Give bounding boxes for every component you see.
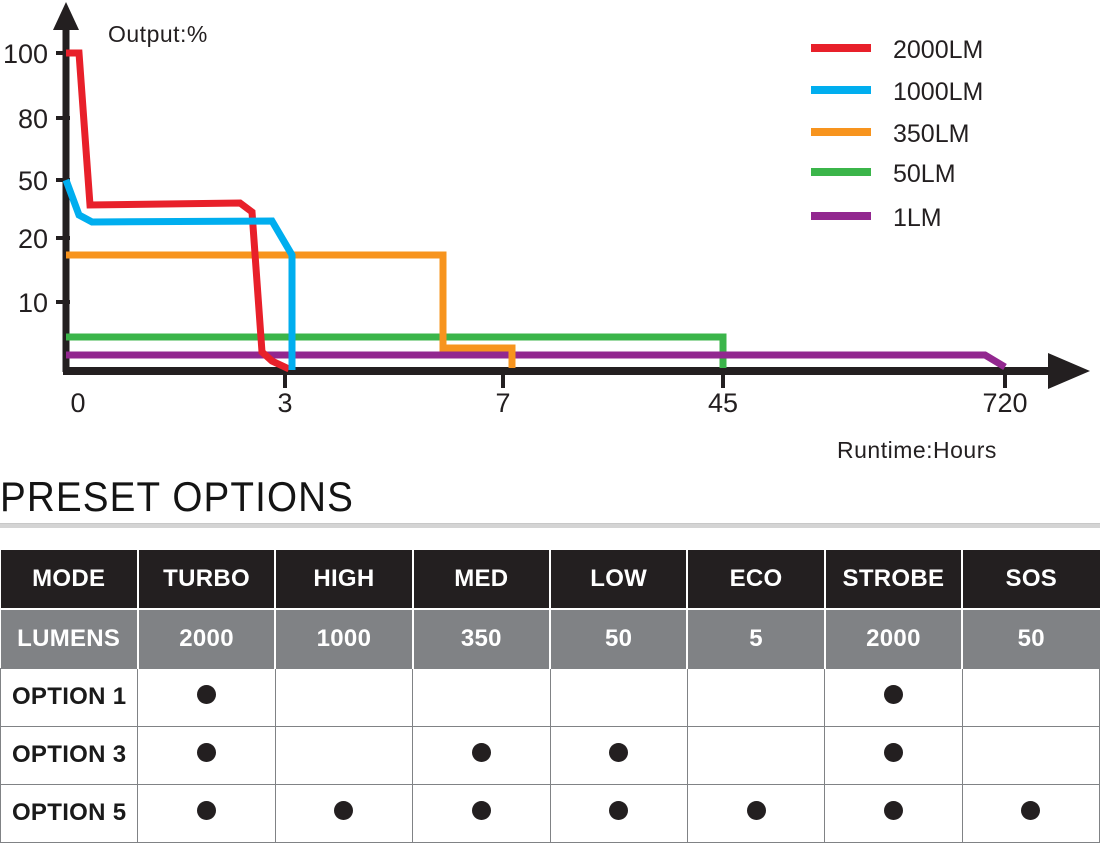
option-label-3: OPTION 3: [1, 726, 138, 784]
x-tick-label-720: 720: [982, 388, 1027, 418]
lumens-cell-4: 50: [550, 609, 687, 668]
selection-dot-icon: [1021, 801, 1040, 820]
lumens-cell-2: 1000: [275, 609, 412, 668]
selection-dot-icon: [197, 685, 216, 704]
legend-label-50LM: 50LM: [893, 160, 956, 188]
legend-item-1LM: 1LM: [811, 204, 942, 232]
selection-dot-icon: [884, 743, 903, 762]
heading-divider: [0, 523, 1100, 528]
option-3-mark-sos[interactable]: [962, 726, 1099, 784]
option-label-5: OPTION 5: [1, 784, 138, 842]
option-1-mark-turbo[interactable]: [138, 668, 275, 726]
y-tick-label-100: 100: [3, 39, 48, 69]
x-tick-label-0: 0: [70, 388, 85, 418]
lumens-cell-0: LUMENS: [1, 609, 138, 668]
legend-label-350LM: 350LM: [893, 120, 969, 148]
table-row-option-5: OPTION 5: [1, 784, 1100, 842]
option-1-mark-med[interactable]: [413, 668, 550, 726]
table-row-lumens: LUMENS 2000 1000 350 50 5 2000 50: [1, 609, 1100, 668]
selection-dot-icon: [197, 743, 216, 762]
mode-header-cell-3: MED: [413, 550, 550, 609]
option-3-mark-eco[interactable]: [687, 726, 824, 784]
mode-header-cell-1: TURBO: [138, 550, 275, 609]
selection-dot-icon: [884, 685, 903, 704]
legend-item-350LM: 350LM: [811, 120, 969, 148]
mode-header-cell-0: MODE: [1, 550, 138, 609]
legend-item-50LM: 50LM: [811, 160, 956, 188]
y-tick-label-50: 50: [18, 166, 48, 196]
option-5-mark-high[interactable]: [275, 784, 412, 842]
option-1-mark-strobe[interactable]: [825, 668, 962, 726]
table-row-mode-header: MODE TURBO HIGH MED LOW ECO STROBE SOS: [1, 550, 1100, 609]
x-tick-label-3: 3: [277, 388, 292, 418]
option-5-mark-sos[interactable]: [962, 784, 1099, 842]
preset-options-table: MODE TURBO HIGH MED LOW ECO STROBE SOS L…: [0, 550, 1100, 843]
selection-dot-icon: [472, 743, 491, 762]
option-5-mark-med[interactable]: [413, 784, 550, 842]
option-5-mark-eco[interactable]: [687, 784, 824, 842]
option-3-mark-strobe[interactable]: [825, 726, 962, 784]
legend-label-2000LM: 2000LM: [893, 36, 983, 64]
option-3-mark-med[interactable]: [413, 726, 550, 784]
x-axis-title: Runtime:Hours: [837, 437, 997, 463]
y-axis-title: Output:%: [108, 21, 208, 47]
y-tick-label-20: 20: [18, 224, 48, 254]
mode-header-cell-2: HIGH: [275, 550, 412, 609]
selection-dot-icon: [472, 801, 491, 820]
selection-dot-icon: [884, 801, 903, 820]
lumens-cell-6: 2000: [825, 609, 962, 668]
legend-label-1LM: 1LM: [893, 204, 942, 232]
option-1-mark-high[interactable]: [275, 668, 412, 726]
option-3-mark-low[interactable]: [550, 726, 687, 784]
series-line-2000LM: [66, 53, 289, 369]
lumens-cell-1: 2000: [138, 609, 275, 668]
option-3-mark-turbo[interactable]: [138, 726, 275, 784]
chart-series-group: [66, 53, 1005, 370]
option-3-mark-high[interactable]: [275, 726, 412, 784]
runtime-chart-svg: 100 80 50 20 10 0 3 7 45 720 Output:% Ru…: [0, 0, 1100, 470]
selection-dot-icon: [747, 801, 766, 820]
selection-dot-icon: [197, 801, 216, 820]
runtime-chart: 100 80 50 20 10 0 3 7 45 720 Output:% Ru…: [0, 0, 1100, 470]
chart-legend: 2000LM 1000LM 350LM 50LM 1LM: [811, 36, 983, 232]
option-5-mark-low[interactable]: [550, 784, 687, 842]
table-row-option-3: OPTION 3: [1, 726, 1100, 784]
lumens-cell-3: 350: [413, 609, 550, 668]
y-tick-label-80: 80: [18, 104, 48, 134]
mode-header-cell-7: SOS: [962, 550, 1099, 609]
mode-header-cell-6: STROBE: [825, 550, 962, 609]
option-1-mark-low[interactable]: [550, 668, 687, 726]
series-line-1LM: [66, 355, 1005, 367]
selection-dot-icon: [609, 743, 628, 762]
option-1-mark-eco[interactable]: [687, 668, 824, 726]
selection-dot-icon: [334, 801, 353, 820]
x-tick-label-7: 7: [495, 388, 510, 418]
preset-options-heading: PRESET OPTIONS: [0, 474, 1012, 520]
option-1-mark-sos[interactable]: [962, 668, 1099, 726]
legend-item-1000LM: 1000LM: [811, 78, 983, 106]
selection-dot-icon: [609, 801, 628, 820]
legend-item-2000LM: 2000LM: [811, 36, 983, 64]
mode-header-cell-5: ECO: [687, 550, 824, 609]
option-5-mark-turbo[interactable]: [138, 784, 275, 842]
lumens-cell-5: 5: [687, 609, 824, 668]
option-label-1: OPTION 1: [1, 668, 138, 726]
option-5-mark-strobe[interactable]: [825, 784, 962, 842]
mode-header-cell-4: LOW: [550, 550, 687, 609]
y-tick-label-10: 10: [18, 288, 48, 318]
table-row-option-1: OPTION 1: [1, 668, 1100, 726]
x-tick-label-45: 45: [708, 388, 738, 418]
legend-label-1000LM: 1000LM: [893, 78, 983, 106]
lumens-cell-7: 50: [962, 609, 1099, 668]
